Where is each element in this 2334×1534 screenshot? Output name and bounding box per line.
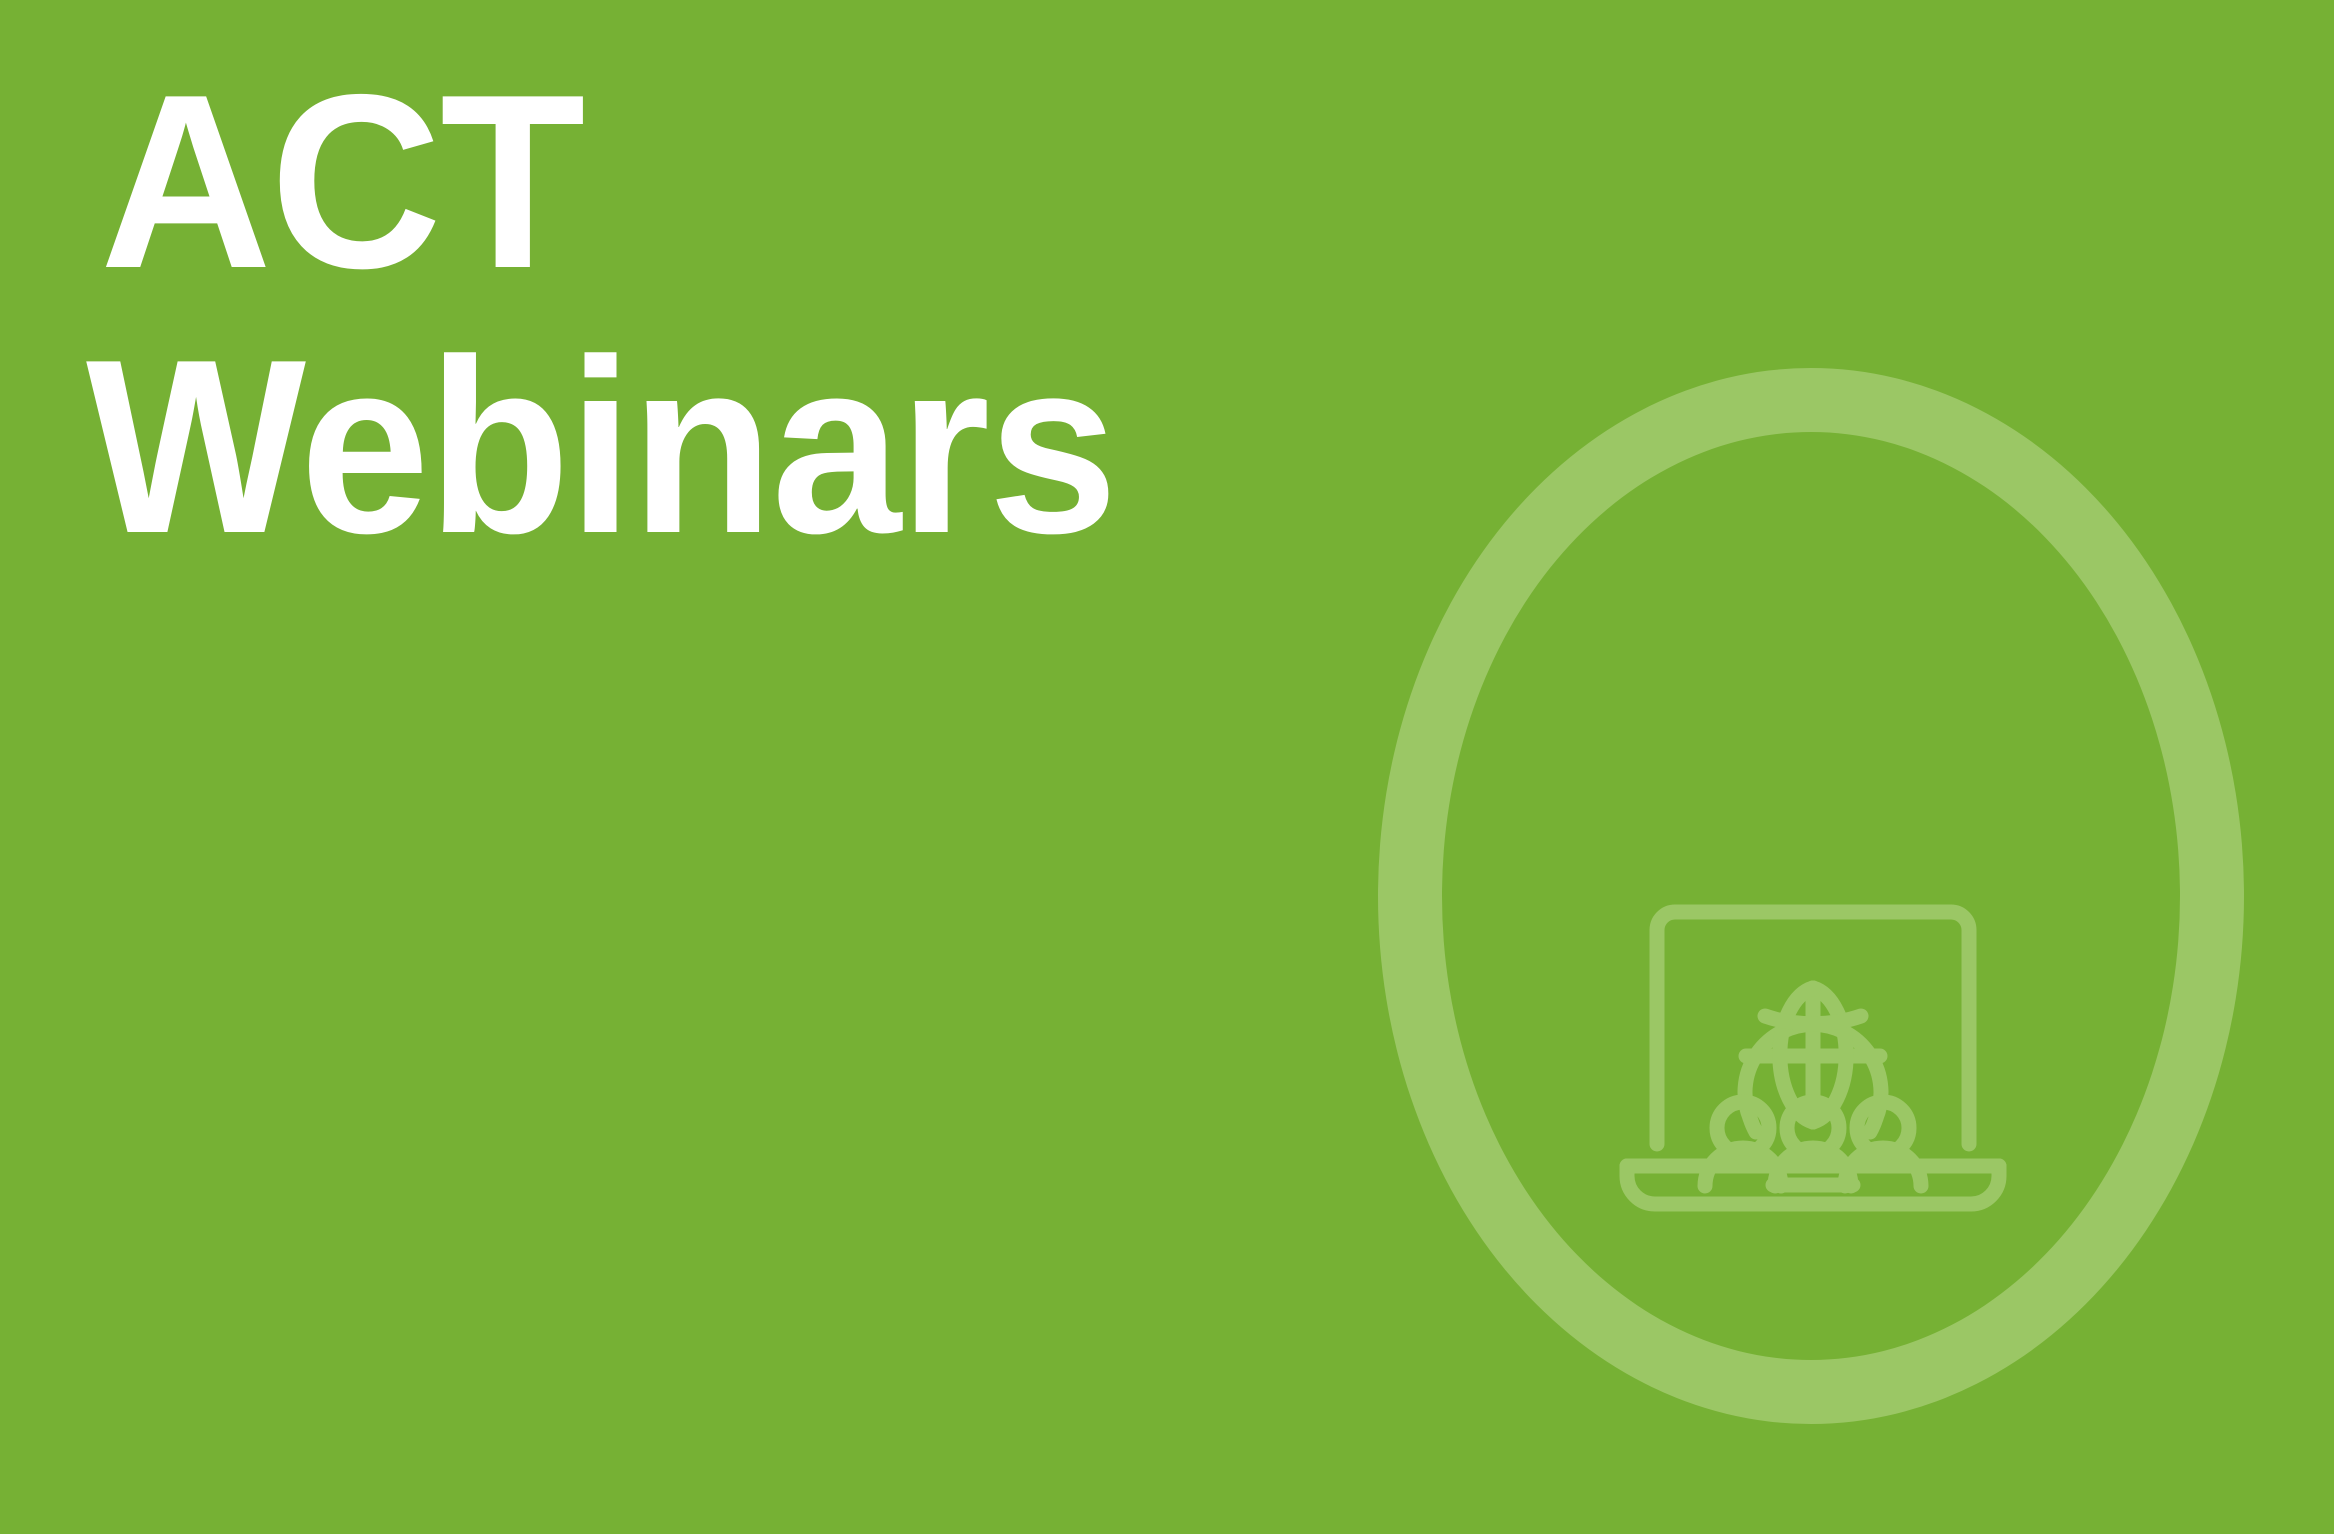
globe-latitude-upper — [1765, 1016, 1861, 1024]
globe-outline-left-tail — [1750, 1118, 1756, 1132]
act-webinars-banner: ACT Webinars — [0, 0, 2334, 1534]
page-title: ACT Webinars — [92, 60, 1292, 568]
globe-outline-right-tail — [1870, 1118, 1876, 1132]
decorative-icon-cluster — [1378, 368, 2244, 1424]
laptop-globe-audience-icon — [1613, 890, 2013, 1216]
webinar-icon-svg — [1613, 890, 2013, 1216]
title-line-webinars: Webinars — [86, 325, 1220, 568]
title-line-act: ACT — [100, 60, 1244, 303]
